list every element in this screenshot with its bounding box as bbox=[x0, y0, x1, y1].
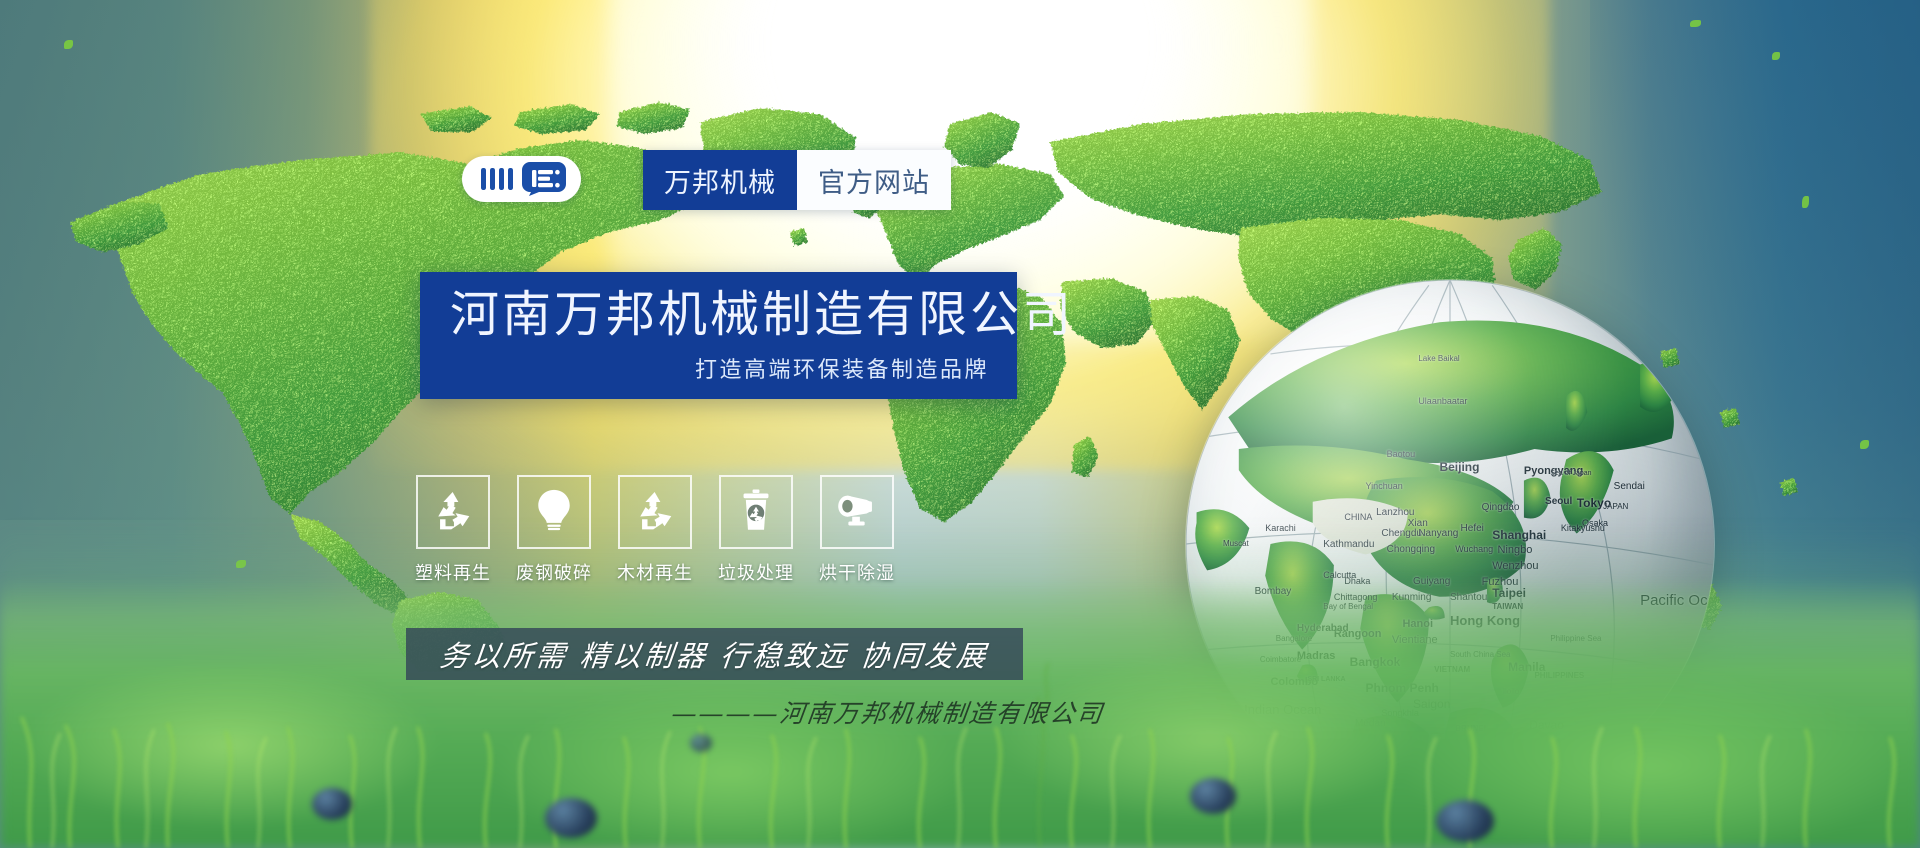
berry bbox=[1190, 778, 1236, 814]
slogan-text: 务以所需 精以制器 行稳致远 协同发展 bbox=[438, 633, 991, 675]
berry bbox=[312, 788, 352, 820]
service-list: 塑料再生 废钢破碎 bbox=[416, 475, 894, 585]
leaf-speck bbox=[64, 40, 73, 49]
berry bbox=[1436, 800, 1494, 842]
page-subtitle: 打造高端环保装备制造品牌 bbox=[450, 352, 989, 384]
service-item-scrap-steel-crushing[interactable]: 废钢破碎 bbox=[517, 475, 591, 585]
hero-banner: UlaanbaatarBeijingBaotouYinchuanPyongyan… bbox=[0, 0, 1920, 848]
hero-title-box: 河南万邦机械制造有限公司 打造高端环保装备制造品牌 bbox=[420, 272, 1017, 399]
logo-b-icon bbox=[521, 161, 567, 197]
nav-tab-official-site[interactable]: 官方网站 bbox=[797, 150, 951, 210]
page-title: 河南万邦机械制造有限公司 bbox=[450, 288, 989, 343]
slogan-attribution: ————河南万邦机械制造有限公司 bbox=[670, 694, 1106, 730]
service-label: 烘干除湿 bbox=[819, 559, 895, 585]
service-icon-box[interactable] bbox=[820, 475, 894, 549]
service-icon-box[interactable] bbox=[719, 475, 793, 549]
lightbulb-icon bbox=[531, 487, 577, 538]
service-icon-box[interactable] bbox=[517, 475, 591, 549]
logo-w-icon bbox=[477, 164, 517, 194]
leaf-speck bbox=[1860, 440, 1869, 449]
service-label: 垃圾处理 bbox=[718, 559, 794, 585]
service-label: 木材再生 bbox=[617, 559, 693, 585]
berry bbox=[545, 798, 597, 838]
site-nav[interactable]: 万邦机械 官方网站 bbox=[643, 150, 951, 210]
berry bbox=[690, 734, 712, 752]
service-item-waste-treatment[interactable]: 垃圾处理 bbox=[719, 475, 793, 585]
blower-dryer-icon bbox=[834, 487, 880, 538]
slogan-banner: 务以所需 精以制器 行稳致远 协同发展 bbox=[406, 628, 1023, 680]
service-item-wood-recycling[interactable]: 木材再生 bbox=[618, 475, 692, 585]
leaf-speck bbox=[1690, 20, 1701, 27]
service-item-plastic-recycling[interactable]: 塑料再生 bbox=[416, 475, 490, 585]
recycle-icon bbox=[430, 487, 476, 538]
recycle-icon bbox=[632, 487, 678, 538]
service-label: 塑料再生 bbox=[415, 559, 491, 585]
service-icon-box[interactable] bbox=[618, 475, 692, 549]
service-icon-box[interactable] bbox=[416, 475, 490, 549]
leaf-speck bbox=[1802, 196, 1809, 208]
service-label: 废钢破碎 bbox=[516, 559, 592, 585]
service-item-drying-dehumidifying[interactable]: 烘干除湿 bbox=[820, 475, 894, 585]
nav-tab-company[interactable]: 万邦机械 bbox=[643, 150, 797, 210]
brand-logo[interactable] bbox=[462, 156, 581, 202]
trash-bin-icon bbox=[733, 487, 779, 538]
leaf-speck bbox=[1772, 52, 1780, 60]
